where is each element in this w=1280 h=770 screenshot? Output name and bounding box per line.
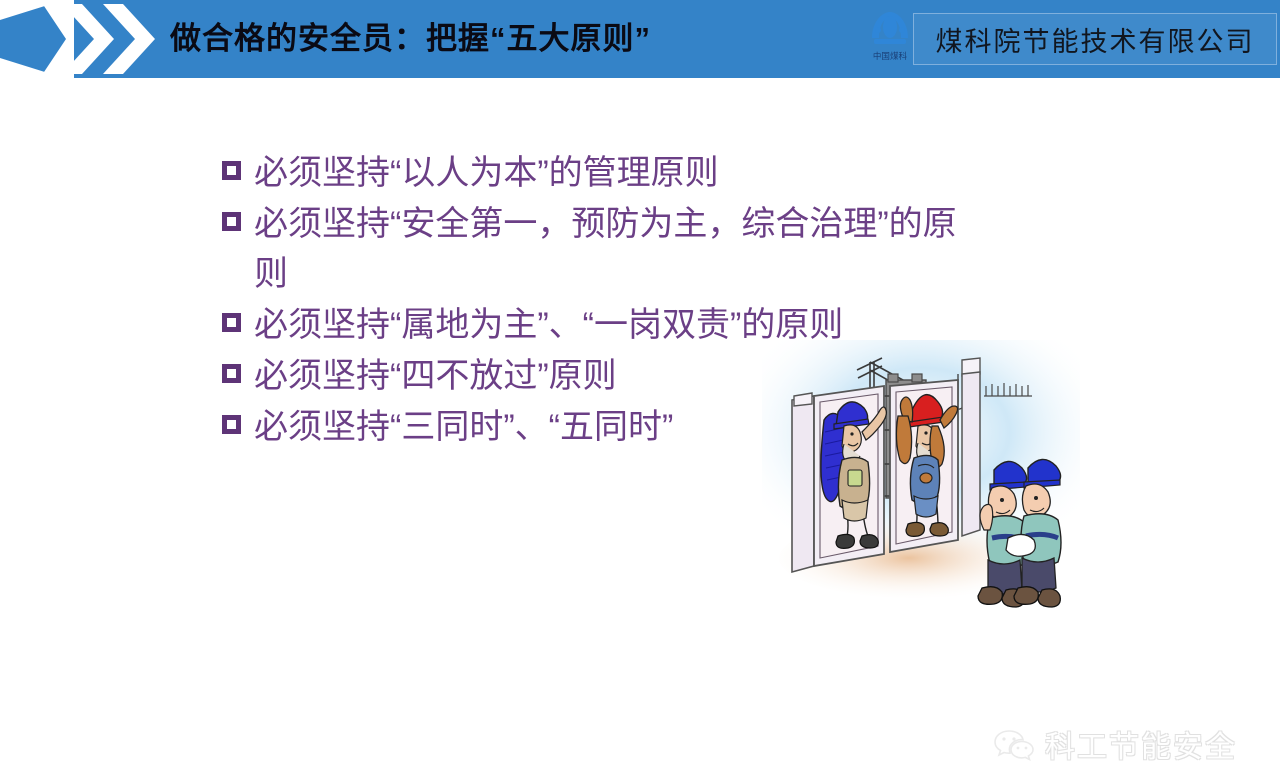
hollow-square-bullet-icon	[222, 161, 241, 180]
watermark: 科工节能安全	[993, 718, 1263, 770]
hollow-square-bullet-icon	[222, 364, 241, 383]
company-name-box: 煤科院节能技术有限公司	[913, 13, 1277, 65]
header-bar: 做合格的安全员：把握“五大原则” 中国煤科 煤科院节能技术有限公司	[0, 0, 1280, 78]
hollow-square-bullet-icon	[222, 212, 241, 231]
hollow-square-bullet-icon	[222, 313, 241, 332]
list-item-label: 必须坚持“以人为本”的管理原则	[254, 148, 982, 198]
wechat-icon	[993, 727, 1035, 761]
chevron-right-icon-2	[103, 4, 159, 74]
watermark-label: 科工节能安全	[1045, 722, 1237, 766]
construction-safety-poster-cartoon	[762, 340, 1080, 640]
china-coal-science-emblem-icon	[868, 8, 912, 48]
slide-body: 必须坚持“以人为本”的管理原则 必须坚持“安全第一，预防为主，综合治理”的原则 …	[0, 78, 1280, 720]
hollow-square-bullet-icon	[222, 415, 241, 434]
list-item: 必须坚持“安全第一，预防为主，综合治理”的原则	[222, 199, 982, 299]
list-item-label: 必须坚持“安全第一，预防为主，综合治理”的原则	[254, 199, 982, 299]
list-item: 必须坚持“以人为本”的管理原则	[222, 148, 982, 198]
company-name: 煤科院节能技术有限公司	[936, 20, 1255, 59]
page-title: 做合格的安全员：把握“五大原则”	[170, 14, 651, 64]
